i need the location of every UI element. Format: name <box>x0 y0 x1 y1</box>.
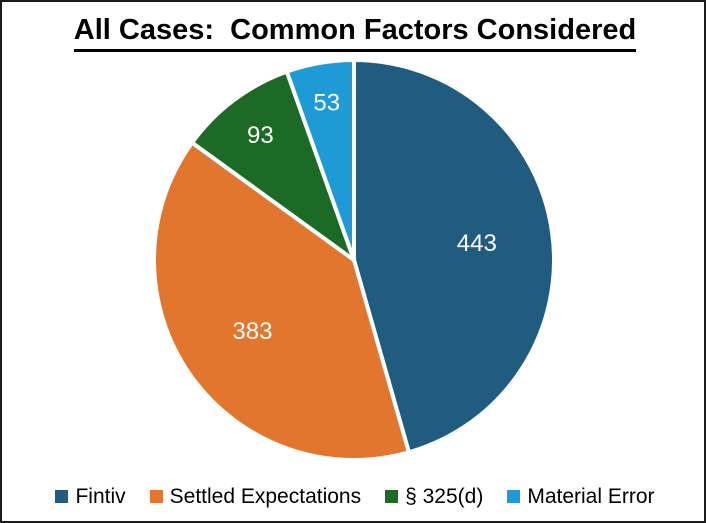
legend-label-section-325d: § 325(d) <box>405 486 483 507</box>
pie-slice-group <box>154 60 554 460</box>
legend-swatch-settled-expectations <box>150 490 163 503</box>
legend-item-material-error[interactable]: Material Error <box>507 486 654 507</box>
legend-item-settled-expectations[interactable]: Settled Expectations <box>150 486 361 507</box>
legend-swatch-fintiv <box>55 490 68 503</box>
chart-frame: All Cases: Common Factors Considered 443… <box>0 0 706 523</box>
legend-label-fintiv: Fintiv <box>75 486 125 507</box>
pie-slice-label: 383 <box>232 318 272 345</box>
pie-chart-plot-area: 4433839353 <box>2 50 706 470</box>
legend-item-section-325d[interactable]: § 325(d) <box>385 486 483 507</box>
chart-legend: Fintiv Settled Expectations § 325(d) Mat… <box>2 486 706 507</box>
chart-title: All Cases: Common Factors Considered <box>2 14 706 52</box>
pie-slice-label: 443 <box>457 230 497 257</box>
legend-swatch-section-325d <box>385 490 398 503</box>
pie-slice-label: 53 <box>313 89 340 116</box>
legend-swatch-material-error <box>507 490 520 503</box>
chart-title-text: All Cases: Common Factors Considered <box>74 14 636 52</box>
legend-label-settled-expectations: Settled Expectations <box>170 486 361 507</box>
pie-chart-svg: 4433839353 <box>2 50 706 470</box>
pie-slice-label: 93 <box>247 122 274 149</box>
legend-label-material-error: Material Error <box>527 486 654 507</box>
legend-item-fintiv[interactable]: Fintiv <box>55 486 125 507</box>
